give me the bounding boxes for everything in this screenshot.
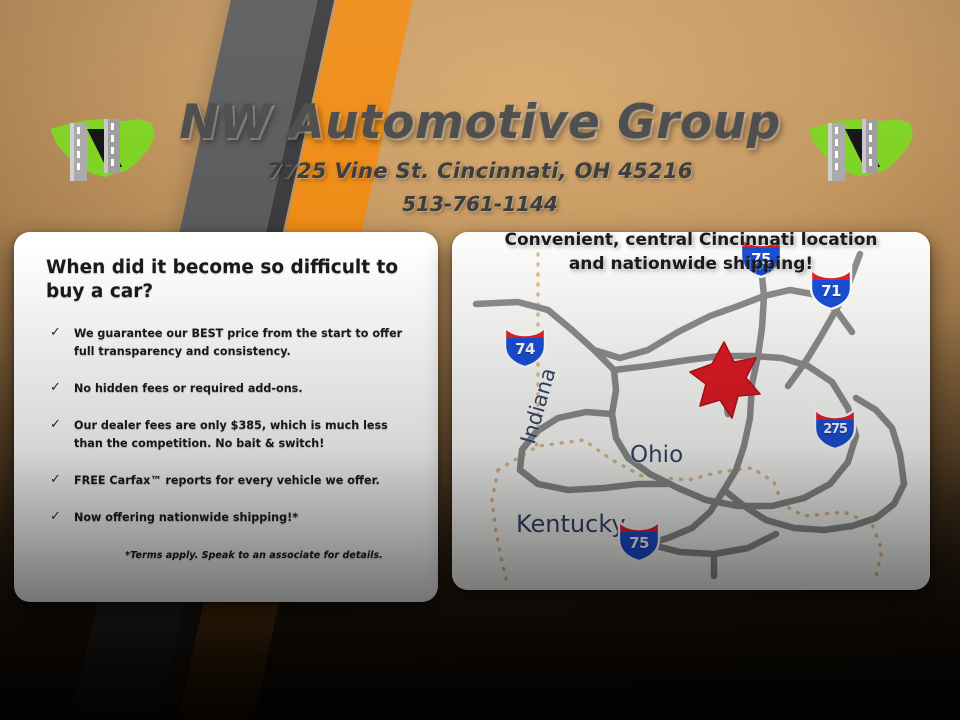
list-item: ✓ FREE Carfax™ reports for every vehicle…	[38, 471, 418, 489]
shield-route-number: 74	[502, 340, 548, 358]
benefits-panel: When did it become so difficult to buy a…	[14, 232, 438, 602]
check-icon: ✓	[50, 472, 61, 487]
list-item-label: Our dealer fees are only $385, which is …	[74, 419, 388, 450]
check-icon: ✓	[50, 325, 61, 340]
map-heading-line2: and nationwide shipping!	[452, 252, 930, 276]
check-icon: ✓	[50, 417, 61, 432]
list-item-label: We guarantee our BEST price from the sta…	[74, 327, 402, 358]
state-label-kentucky: Kentucky	[516, 510, 626, 538]
list-item: ✓ Now offering nationwide shipping!*	[38, 508, 418, 526]
map-panel: Indiana Ohio Kentucky 74 75 71 275 75 Co…	[452, 232, 930, 590]
map-heading: Convenient, central Cincinnati location …	[452, 228, 930, 276]
list-item-label: FREE Carfax™ reports for every vehicle w…	[74, 474, 380, 487]
phone-number: 513-761-1144	[0, 192, 960, 216]
check-icon: ✓	[50, 380, 61, 395]
terms-footnote: *Terms apply. Speak to an associate for …	[104, 550, 404, 561]
shield-route-number: 75	[616, 534, 662, 552]
check-icon: ✓	[50, 509, 61, 524]
list-item-label: No hidden fees or required add-ons.	[74, 382, 303, 395]
header: NW Automotive Group 7725 Vine St. Cincin…	[0, 95, 960, 230]
list-item: ✓ No hidden fees or required add-ons.	[38, 379, 418, 397]
address-line: 7725 Vine St. Cincinnati, OH 45216	[0, 159, 960, 183]
map-heading-line1: Convenient, central Cincinnati location	[452, 228, 930, 252]
slide-canvas: NW Automotive Group 7725 Vine St. Cincin…	[0, 0, 960, 720]
state-label-ohio: Ohio	[630, 442, 683, 468]
page-title: NW Automotive Group	[0, 95, 960, 150]
shield-route-number: 275	[812, 422, 858, 437]
interstate-shield-275-icon: 275	[812, 406, 858, 450]
list-item-label: Now offering nationwide shipping!*	[74, 511, 298, 524]
interstate-shield-74-icon: 74	[502, 324, 548, 368]
benefits-list: ✓ We guarantee our BEST price from the s…	[38, 324, 418, 545]
list-item: ✓ We guarantee our BEST price from the s…	[38, 324, 418, 360]
interstate-shield-75-south-icon: 75	[616, 518, 662, 562]
shield-route-number: 71	[808, 282, 854, 300]
list-item: ✓ Our dealer fees are only $385, which i…	[38, 416, 418, 452]
benefits-heading: When did it become so difficult to buy a…	[46, 256, 416, 303]
